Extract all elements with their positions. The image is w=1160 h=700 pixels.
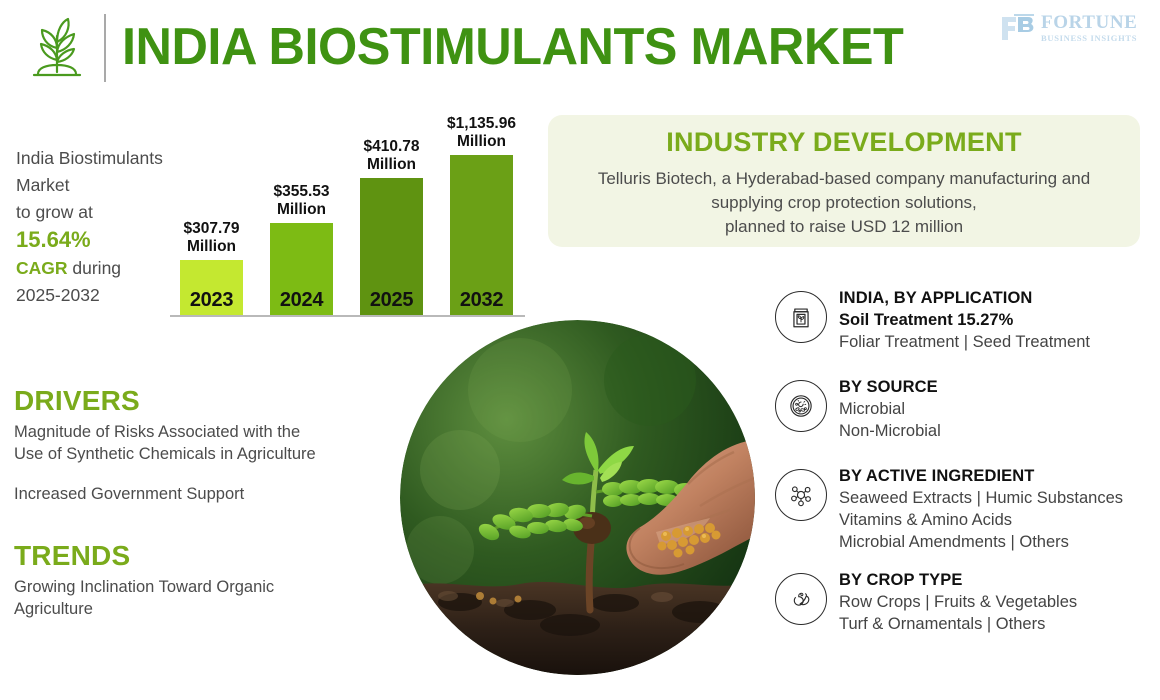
bar-column-2023: $307.79 Million 2023: [180, 220, 243, 315]
segment-title: INDIA, BY APPLICATION: [839, 288, 1155, 309]
chart-baseline: [170, 315, 525, 317]
infographic-page: INDIA BIOSTIMULANTS MARKET FORTUNE BUSIN…: [0, 0, 1160, 700]
segment-by-application: INDIA, BY APPLICATION Soil Treatment 15.…: [775, 288, 1155, 360]
drivers-item-2: Increased Government Support: [14, 483, 389, 505]
header: INDIA BIOSTIMULANTS MARKET FORTUNE BUSIN…: [0, 0, 1160, 95]
industry-line-1: Telluris Biotech, a Hyderabad-based comp…: [598, 169, 1090, 188]
segment-text: INDIA, BY APPLICATION Soil Treatment 15.…: [839, 288, 1155, 353]
drivers-item-1: Magnitude of Risks Associated with the U…: [14, 421, 389, 465]
bar-value-label-2023: $307.79 Million: [183, 220, 239, 256]
segment-title: BY CROP TYPE: [839, 570, 1155, 591]
cagr-summary: India Biostimulants Market to grow at 15…: [16, 145, 176, 309]
sprout-icon: [24, 12, 90, 82]
trends-item-1: Growing Inclination Toward Organic Agric…: [14, 576, 389, 620]
fertilizer-bag-icon: [775, 291, 827, 343]
bar-rect-2032: 2032: [450, 155, 513, 315]
industry-line-2: supplying crop protection solutions,: [711, 193, 977, 212]
segment-line: Microbial: [839, 398, 1155, 420]
brand-name: FORTUNE: [1041, 13, 1137, 32]
drivers-section: DRIVERS Magnitude of Risks Associated wi…: [14, 385, 389, 505]
seedling-photo: [400, 320, 755, 675]
bar-column-2032: $1,135.96 Million 2032: [450, 115, 513, 315]
industry-line-3: planned to raise USD 12 million: [725, 217, 963, 236]
cagr-label: CAGR: [16, 258, 68, 278]
trends-heading: TRENDS: [14, 540, 389, 572]
cagr-during: during: [68, 258, 122, 278]
segment-line: Row Crops | Fruits & Vegetables: [839, 591, 1155, 613]
segment-text: BY CROP TYPE Row Crops | Fruits & Vegeta…: [839, 570, 1155, 635]
header-divider: [104, 14, 106, 82]
bar-value-label-2032: $1,135.96 Million: [447, 115, 516, 151]
industry-development-panel: INDUSTRY DEVELOPMENT Telluris Biotech, a…: [548, 115, 1140, 247]
bar-year-2025: 2025: [370, 289, 413, 315]
industry-development-body: Telluris Biotech, a Hyderabad-based comp…: [548, 167, 1140, 239]
fortune-business-insights-logo: FORTUNE BUSINESS INSIGHTS: [1000, 8, 1150, 48]
cagr-period: 2025-2032: [16, 285, 100, 305]
segment-line: Microbial Amendments | Others: [839, 531, 1155, 553]
bars-area: $307.79 Million 2023 $355.53 Million 202…: [170, 100, 530, 325]
cagr-line-3: to grow at: [16, 202, 93, 222]
petri-dish-microbe-icon: [775, 380, 827, 432]
segment-by-crop-type: BY CROP TYPE Row Crops | Fruits & Vegeta…: [775, 570, 1155, 642]
molecule-icon: [775, 469, 827, 521]
segmentation-list: INDIA, BY APPLICATION Soil Treatment 15.…: [775, 288, 1155, 659]
segment-line: Foliar Treatment | Seed Treatment: [839, 331, 1155, 353]
fb-monogram-icon: [1000, 13, 1036, 43]
bar-year-2023: 2023: [190, 289, 233, 315]
segment-by-active-ingredient: BY ACTIVE INGREDIENT Seaweed Extracts | …: [775, 466, 1155, 553]
cagr-line-1: India Biostimulants: [16, 148, 163, 168]
bar-rect-2023: 2023: [180, 260, 243, 315]
bar-column-2025: $410.78 Million 2025: [360, 138, 423, 315]
bar-year-2024: 2024: [280, 289, 323, 315]
bar-value-label-2025: $410.78 Million: [363, 138, 419, 174]
drivers-heading: DRIVERS: [14, 385, 389, 417]
segment-line: Non-Microbial: [839, 420, 1155, 442]
segment-highlight: Soil Treatment 15.27%: [839, 309, 1155, 331]
page-title: INDIA BIOSTIMULANTS MARKET: [122, 14, 903, 80]
bar-value-label-2024: $355.53 Million: [273, 183, 329, 219]
segment-by-source: BY SOURCE Microbial Non-Microbial: [775, 377, 1155, 449]
industry-development-title: INDUSTRY DEVELOPMENT: [548, 127, 1140, 158]
segment-line: Seaweed Extracts | Humic Substances: [839, 487, 1155, 509]
bar-year-2032: 2032: [460, 289, 503, 315]
segment-text: BY ACTIVE INGREDIENT Seaweed Extracts | …: [839, 466, 1155, 553]
segment-title: BY ACTIVE INGREDIENT: [839, 466, 1155, 487]
bar-column-2024: $355.53 Million 2024: [270, 183, 333, 315]
trends-section: TRENDS Growing Inclination Toward Organi…: [14, 540, 389, 620]
segment-text: BY SOURCE Microbial Non-Microbial: [839, 377, 1155, 442]
bar-rect-2025: 2025: [360, 178, 423, 315]
cagr-line-2: Market: [16, 175, 69, 195]
segment-line: Vitamins & Amino Acids: [839, 509, 1155, 531]
vegetables-icon: [775, 573, 827, 625]
segment-title: BY SOURCE: [839, 377, 1155, 398]
bar-rect-2024: 2024: [270, 223, 333, 315]
segment-line: Turf & Ornamentals | Others: [839, 613, 1155, 635]
cagr-percent: 15.64%: [16, 227, 91, 252]
market-size-bar-chart: India Biostimulants Market to grow at 15…: [0, 100, 540, 325]
brand-subtitle: BUSINESS INSIGHTS: [1041, 34, 1137, 43]
drivers-spacer: [14, 465, 389, 483]
